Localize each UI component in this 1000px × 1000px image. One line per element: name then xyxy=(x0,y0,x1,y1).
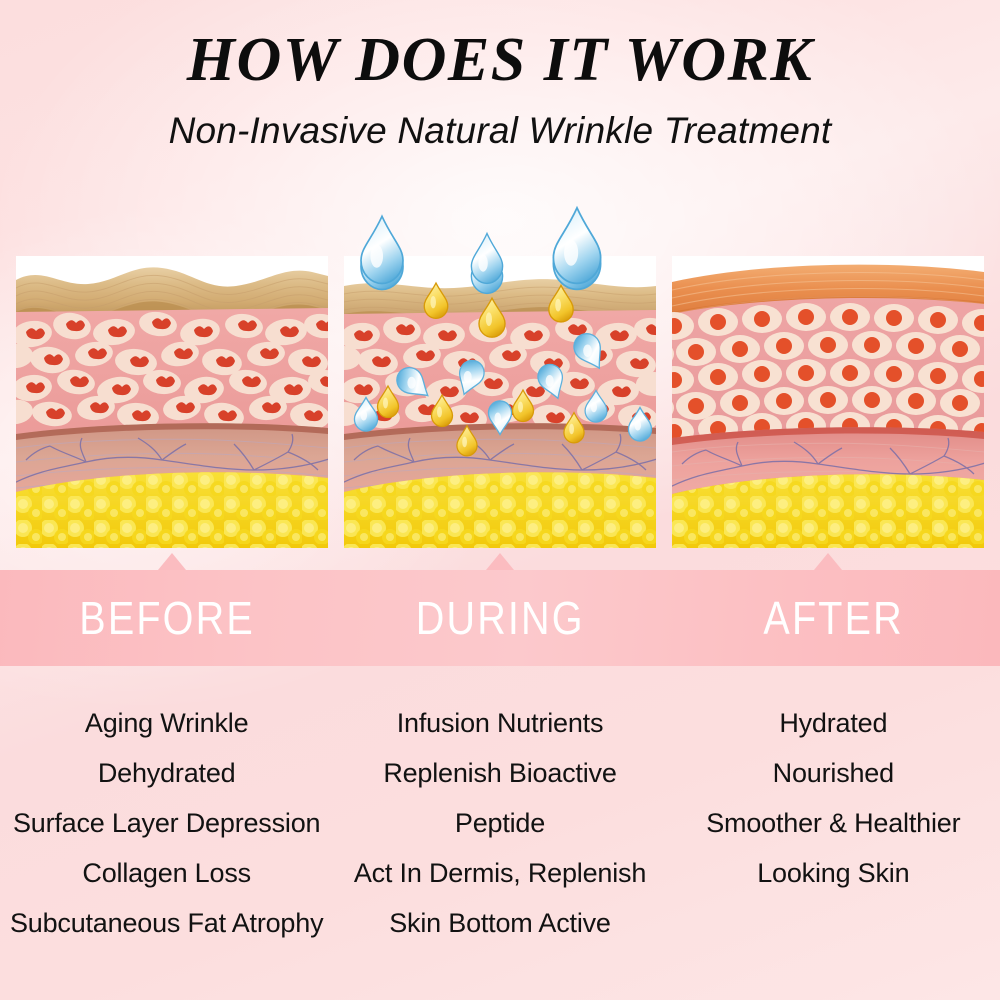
list-item: Hydrated xyxy=(779,698,887,748)
list-item: Aging Wrinkle xyxy=(85,698,248,748)
skin-cross-section-restored-icon xyxy=(672,256,984,548)
stage-label-during: DURING xyxy=(416,591,585,645)
stage-label-after: AFTER xyxy=(763,591,903,645)
list-item: Replenish Bioactive xyxy=(383,748,616,798)
skin-cross-section-aging-icon xyxy=(16,256,328,548)
page-title: HOW DOES IT WORK xyxy=(0,0,1000,94)
band-cell-during: DURING xyxy=(333,570,666,666)
band-notch-during xyxy=(486,553,514,570)
list-item: Dehydrated xyxy=(98,748,236,798)
list-item: Nourished xyxy=(773,748,894,798)
band-cell-after: AFTER xyxy=(667,570,1000,666)
list-item: Surface Layer Depression xyxy=(13,798,320,848)
during-column: Infusion Nutrients Replenish Bioactive P… xyxy=(333,678,666,968)
band-notch-after xyxy=(814,553,842,570)
panel-row xyxy=(0,256,1000,548)
list-item: Smoother & Healthier xyxy=(706,798,960,848)
band-notch-before xyxy=(158,553,186,570)
benefit-columns: Aging Wrinkle Dehydrated Surface Layer D… xyxy=(0,678,1000,968)
before-column: Aging Wrinkle Dehydrated Surface Layer D… xyxy=(0,678,333,968)
stage-label-before: BEFORE xyxy=(79,591,255,645)
header: HOW DOES IT WORK Non-Invasive Natural Wr… xyxy=(0,0,1000,152)
list-item: Infusion Nutrients xyxy=(397,698,604,748)
list-item: Looking Skin xyxy=(757,848,909,898)
panel-after xyxy=(672,256,984,548)
panel-before xyxy=(16,256,328,548)
stage-label-band: BEFORE DURING AFTER xyxy=(0,570,1000,666)
after-column: Hydrated Nourished Smoother & Healthier … xyxy=(667,678,1000,968)
skin-cross-section-infusion-icon xyxy=(344,256,656,548)
panel-during xyxy=(344,256,656,548)
list-item: Subcutaneous Fat Atrophy xyxy=(10,898,323,948)
infographic-page: HOW DOES IT WORK Non-Invasive Natural Wr… xyxy=(0,0,1000,1000)
page-subtitle: Non-Invasive Natural Wrinkle Treatment xyxy=(0,94,1000,152)
list-item: Peptide xyxy=(455,798,545,848)
list-item: Act In Dermis, Replenish xyxy=(354,848,646,898)
band-cell-before: BEFORE xyxy=(0,570,333,666)
list-item: Skin Bottom Active xyxy=(389,898,611,948)
list-item: Collagen Loss xyxy=(82,848,251,898)
